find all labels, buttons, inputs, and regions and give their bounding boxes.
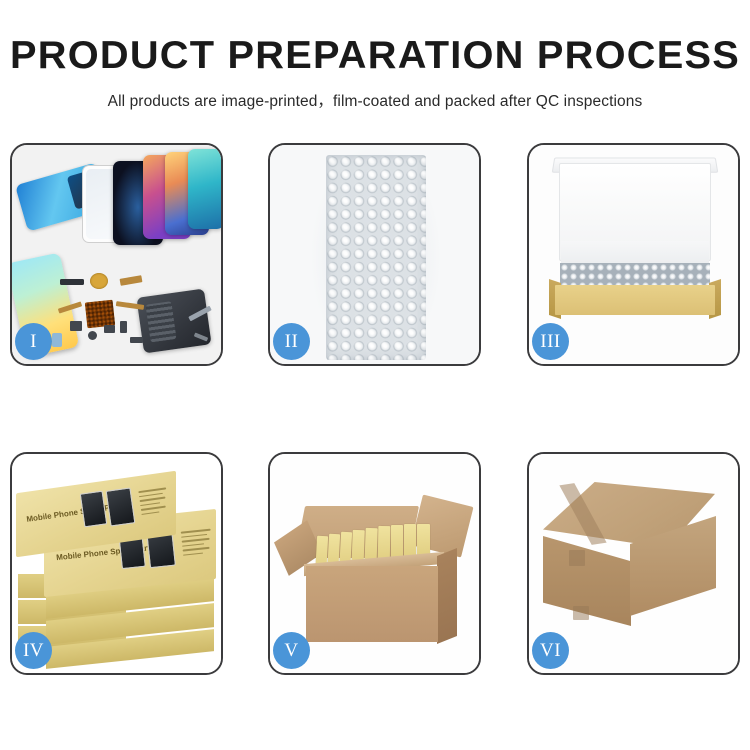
small-part-2 xyxy=(88,331,97,340)
step-badge-3: III xyxy=(532,323,569,360)
page-subtitle: All products are image-printed，film-coat… xyxy=(0,89,750,111)
box-screen-graphic-1 xyxy=(80,491,108,528)
box-spec-lines-1 xyxy=(138,487,171,518)
small-part-6 xyxy=(130,337,143,343)
bubble-wrapped-phone xyxy=(326,155,426,360)
step-card-4[interactable]: Mobile Phone Spare Parts Mobile Phone xyxy=(10,452,223,675)
step-badge-5: V xyxy=(273,632,310,669)
kraft-box-front-panel xyxy=(555,285,715,315)
small-part-3 xyxy=(104,325,115,333)
flex-cable-1 xyxy=(120,275,143,286)
carton-hand-hole-bottom xyxy=(573,606,589,620)
page-header: PRODUCT PREPARATION PROCESS All products… xyxy=(0,0,750,111)
step-card-5[interactable]: V xyxy=(268,452,481,675)
step-badge-4: IV xyxy=(15,632,52,669)
box-spec-lines-2 xyxy=(181,528,216,558)
box-screen-graphic-2 xyxy=(106,487,136,526)
carton-front-panel xyxy=(306,566,438,642)
step-badge-6: VI xyxy=(532,632,569,669)
page-title: PRODUCT PREPARATION PROCESS xyxy=(0,36,750,75)
process-row-2: Mobile Phone Spare Parts Mobile Phone xyxy=(10,452,741,675)
stacked-box-labelled-1: Mobile Phone Spare Parts xyxy=(16,482,176,546)
carton-hand-hole-left xyxy=(569,550,585,566)
small-part-5 xyxy=(52,333,62,347)
phone-opened-housing xyxy=(136,289,211,354)
process-row-1: I II xyxy=(10,143,741,366)
speaker-module xyxy=(90,273,108,289)
carton-right-panel xyxy=(437,548,457,644)
small-part-1 xyxy=(70,321,82,331)
battery-connector xyxy=(60,279,84,285)
step-badge-1: I xyxy=(15,323,52,360)
step-card-1[interactable]: I xyxy=(10,143,223,366)
small-part-4 xyxy=(120,321,127,333)
retail-box-stack: Mobile Phone Spare Parts Mobile Phone xyxy=(16,476,221,662)
step-card-6[interactable]: VI xyxy=(527,452,740,675)
step-badge-2: II xyxy=(273,323,310,360)
step-card-3[interactable]: III xyxy=(527,143,740,366)
phone-teal-gradient xyxy=(188,149,221,229)
process-steps-grid: I II xyxy=(10,143,741,675)
step-card-2[interactable]: II xyxy=(268,143,481,366)
product-preparation-page: PRODUCT PREPARATION PROCESS All products… xyxy=(0,0,750,750)
